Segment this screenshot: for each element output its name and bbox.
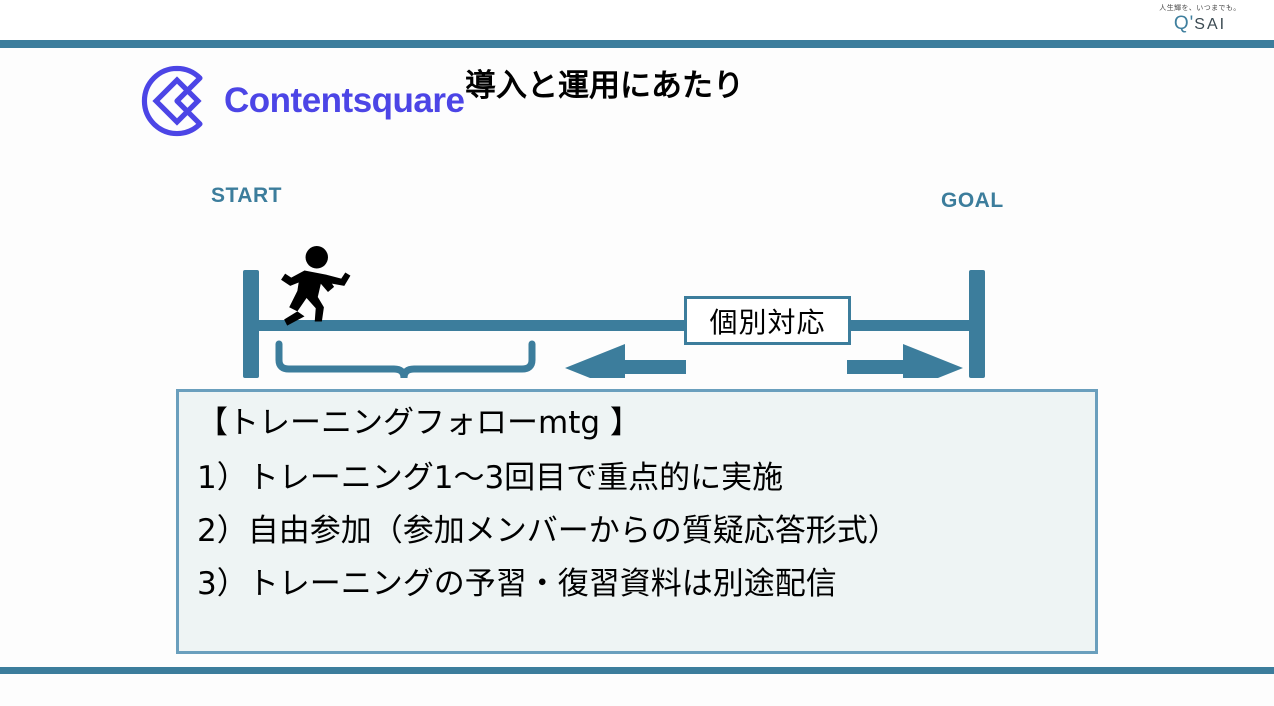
qsai-tagline: 人生輝を、いつまでも。 — [1140, 5, 1260, 12]
arrow-right-icon — [847, 344, 963, 378]
goal-post — [969, 270, 985, 378]
slide-body: Contentsquare 導入と運用にあたり — [0, 48, 1274, 667]
start-label: START — [211, 184, 282, 208]
note-line-3: 3）トレーニングの予習・復習資料は別途配信 — [197, 569, 1095, 600]
qsai-wordmark: Q'SAI — [1140, 14, 1260, 33]
goal-label: GOAL — [941, 189, 1004, 213]
qsai-q-letter: Q' — [1174, 13, 1194, 34]
top-strip — [0, 0, 1274, 40]
top-rule — [0, 40, 1274, 48]
training-note-box: 【トレーニングフォローmtg 】 1）トレーニング1〜3回目で重点的に実施 2）… — [176, 389, 1098, 654]
track-diagram: START GOAL 個別対応 — [0, 48, 1274, 378]
bottom-rule — [0, 667, 1274, 674]
curly-brace-down-icon — [279, 344, 532, 378]
kobetsu-taiou-box: 個別対応 — [684, 296, 851, 345]
note-heading: 【トレーニングフォローmtg 】 — [197, 408, 1095, 439]
running-person-icon — [281, 246, 350, 326]
track-line — [248, 320, 985, 331]
qsai-logo: 人生輝を、いつまでも。 Q'SAI — [1140, 2, 1260, 40]
start-post — [243, 270, 259, 378]
qsai-sai-letters: SAI — [1194, 16, 1226, 33]
slide-canvas: 人生輝を、いつまでも。 Q'SAI Contentsquare 導入と運用にあた… — [0, 0, 1274, 706]
arrow-left-icon — [565, 344, 686, 378]
kobetsu-taiou-label: 個別対応 — [709, 301, 825, 341]
note-line-2: 2）自由参加（参加メンバーからの質疑応答形式） — [197, 516, 1095, 547]
note-line-1: 1）トレーニング1〜3回目で重点的に実施 — [197, 463, 1095, 494]
